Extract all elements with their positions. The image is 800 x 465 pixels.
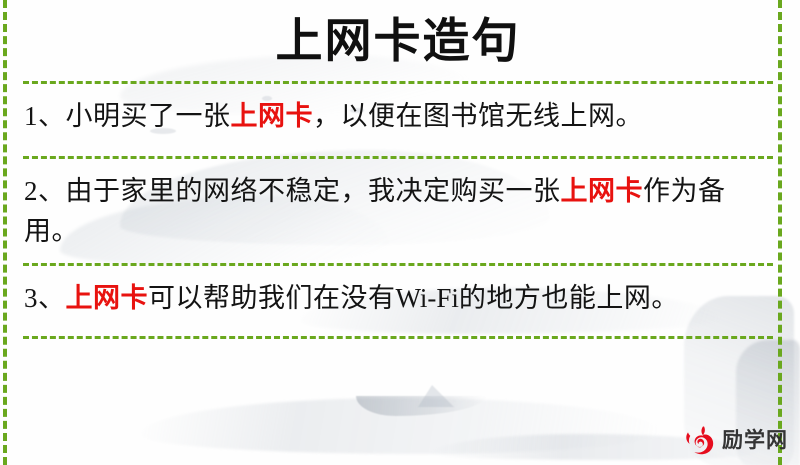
sentence-2-part-plain-a: 由于家里的网络不稳定，我决定购买一张 (66, 176, 561, 206)
sentence-1-keyword: 上网卡 (231, 101, 314, 131)
ink-wash-lake (140, 398, 660, 454)
ink-wash-boat (356, 396, 486, 416)
ink-wash-boat-sail (418, 385, 454, 407)
sentence-1-part-plain-a: 小明买了一张 (66, 101, 231, 131)
sentence-1-part-plain-b: ，以便在图书馆无线上网。 (313, 101, 643, 131)
sentence-3-part-latin: Wi-Fi (396, 283, 459, 313)
sentence-2-number: 2、 (24, 176, 66, 206)
red-swirl-flame-icon (682, 423, 716, 457)
sentence-3-part-plain-b: 的地方也能上网。 (459, 283, 679, 313)
watermark: 励学网 (682, 423, 788, 457)
frame-right-dashed-border (778, 0, 782, 465)
sentence-3-number: 3、 (24, 283, 66, 313)
sentence-2-keyword: 上网卡 (561, 176, 644, 206)
sentence-3-keyword: 上网卡 (66, 283, 149, 313)
document-page: 上网卡造句 1、小明买了一张上网卡，以便在图书馆无线上网。 2、由于家里的网络不… (0, 0, 800, 465)
watermark-brand-text: 励学网 (722, 430, 788, 451)
sentence-1-number: 1、 (24, 101, 66, 131)
page-title: 上网卡造句 (20, 0, 776, 81)
content-column: 上网卡造句 1、小明买了一张上网卡，以便在图书馆无线上网。 2、由于家里的网络不… (0, 0, 800, 339)
sentence-item-1: 1、小明买了一张上网卡，以便在图书馆无线上网。 (20, 84, 776, 156)
sentence-item-2: 2、由于家里的网络不稳定，我决定购买一张上网卡作为备用。 (20, 159, 776, 263)
frame-left-dashed-border (3, 0, 7, 465)
sentence-3-part-plain-a: 可以帮助我们在没有 (148, 283, 396, 313)
divider-bottom (23, 336, 773, 339)
sentence-item-3: 3、上网卡可以帮助我们在没有Wi-Fi的地方也能上网。 (20, 266, 776, 336)
